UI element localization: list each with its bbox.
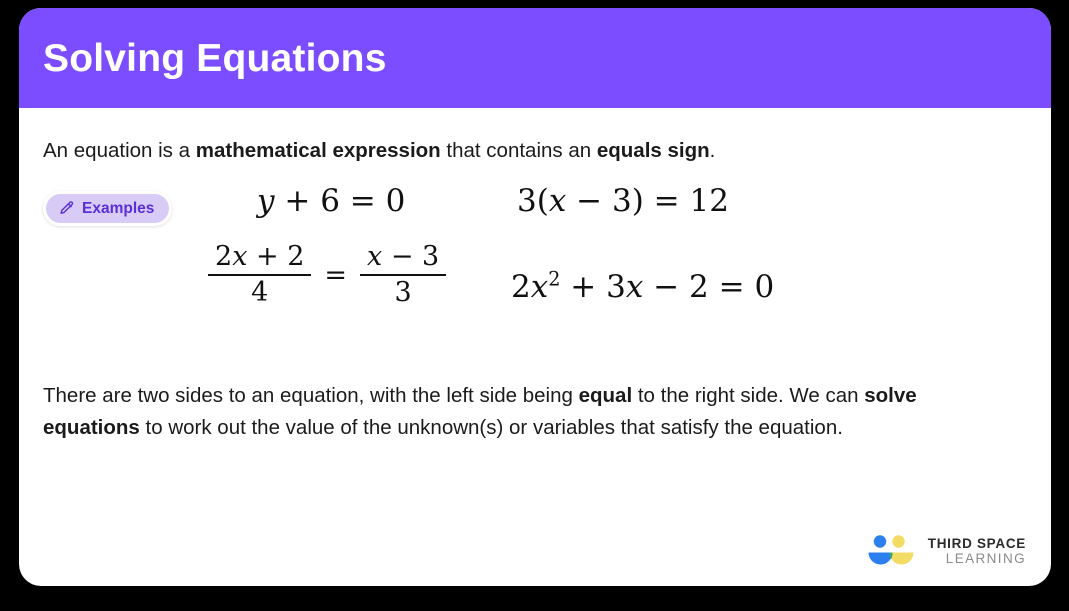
equation-2-const: 3) (612, 183, 644, 219)
equation-1-lhs-var: y (257, 183, 275, 219)
equation-1-op: + (275, 183, 321, 219)
logo-wordmark: THIRD SPACE LEARNING (928, 536, 1026, 566)
brand-logo: THIRD SPACE LEARNING (865, 534, 1026, 568)
lead-text-part-1: An equation is a (43, 139, 196, 162)
equation-4-op1: + (560, 269, 606, 305)
equation-2: 3(x − 3) = 12 (517, 183, 729, 219)
equation-2-equals: = (644, 183, 690, 219)
equation-3-right-num-var: x (367, 241, 382, 272)
equation-1: y + 6 = 0 (257, 183, 405, 219)
slide-card: Solving Equations An equation is a mathe… (19, 8, 1051, 586)
logo-line-1: THIRD SPACE (928, 536, 1026, 551)
equation-row-top: y + 6 = 0 3(x − 3) = 12 (43, 181, 1027, 239)
equation-4-op2: − (643, 269, 689, 305)
equation-4-c: 2 (689, 269, 709, 305)
page-title: Solving Equations (43, 39, 387, 78)
equation-3-right-num-rest: − 3 (382, 241, 439, 272)
equation-3: 2x + 2 4 = x − 3 3 (208, 243, 446, 308)
equation-1-term: 6 (320, 183, 340, 219)
equation-1-equals: = (340, 183, 386, 219)
equation-2-rhs: 12 (690, 183, 729, 219)
closing-text-part-2: to the right side. We can (632, 384, 864, 407)
closing-text-part-3: to work out the value of the unknown(s) … (140, 416, 843, 439)
equation-4-rhs: 0 (754, 269, 774, 305)
equation-2-op: − (566, 183, 612, 219)
equation-4: 2x2 + 3x − 2 = 0 (511, 269, 774, 305)
equation-4-equals: = (709, 269, 755, 305)
equation-3-left-denominator: 4 (244, 276, 275, 307)
lead-bold-equals-sign: equals sign (597, 139, 710, 162)
slide-header: Solving Equations (19, 8, 1051, 108)
equation-3-right-denominator: 3 (388, 276, 419, 307)
equation-3-left-fraction: 2x + 2 4 (208, 243, 311, 308)
equation-4-b-var: x (626, 269, 643, 305)
lead-text-part-2: that contains an (441, 139, 597, 162)
closing-paragraph: There are two sides to an equation, with… (43, 380, 988, 445)
slide-body: An equation is a mathematical expression… (19, 108, 1051, 586)
equation-3-left-num-rest: + 2 (247, 241, 304, 272)
equation-4-a-var: x (531, 269, 548, 305)
equation-4-b-coeff: 3 (606, 269, 626, 305)
lead-paragraph: An equation is a mathematical expression… (43, 136, 1027, 167)
equation-4-a-coeff: 2 (511, 269, 531, 305)
equation-3-equals: = (324, 262, 347, 289)
lead-text-part-3: . (710, 139, 716, 162)
logo-line-2: LEARNING (928, 551, 1026, 566)
equation-1-rhs: 0 (386, 183, 406, 219)
lead-bold-mathematical-expression: mathematical expression (196, 139, 441, 162)
equation-3-right-fraction: x − 3 3 (360, 243, 446, 308)
equation-2-coeff: 3( (517, 183, 549, 219)
closing-bold-equal: equal (579, 384, 633, 407)
equation-3-left-num-coeff: 2 (215, 241, 232, 272)
closing-text-part-1: There are two sides to an equation, with… (43, 384, 579, 407)
examples-block: Examples y + 6 = 0 3(x − 3) = 12 2x + 2 (43, 181, 1027, 351)
third-space-learning-logo-icon (865, 534, 917, 568)
equation-3-right-numerator: x − 3 (360, 243, 446, 274)
equation-3-left-num-var: x (232, 241, 247, 272)
equation-3-left-numerator: 2x + 2 (208, 243, 311, 274)
equation-4-exponent: 2 (548, 267, 560, 290)
equation-2-var: x (549, 183, 566, 219)
